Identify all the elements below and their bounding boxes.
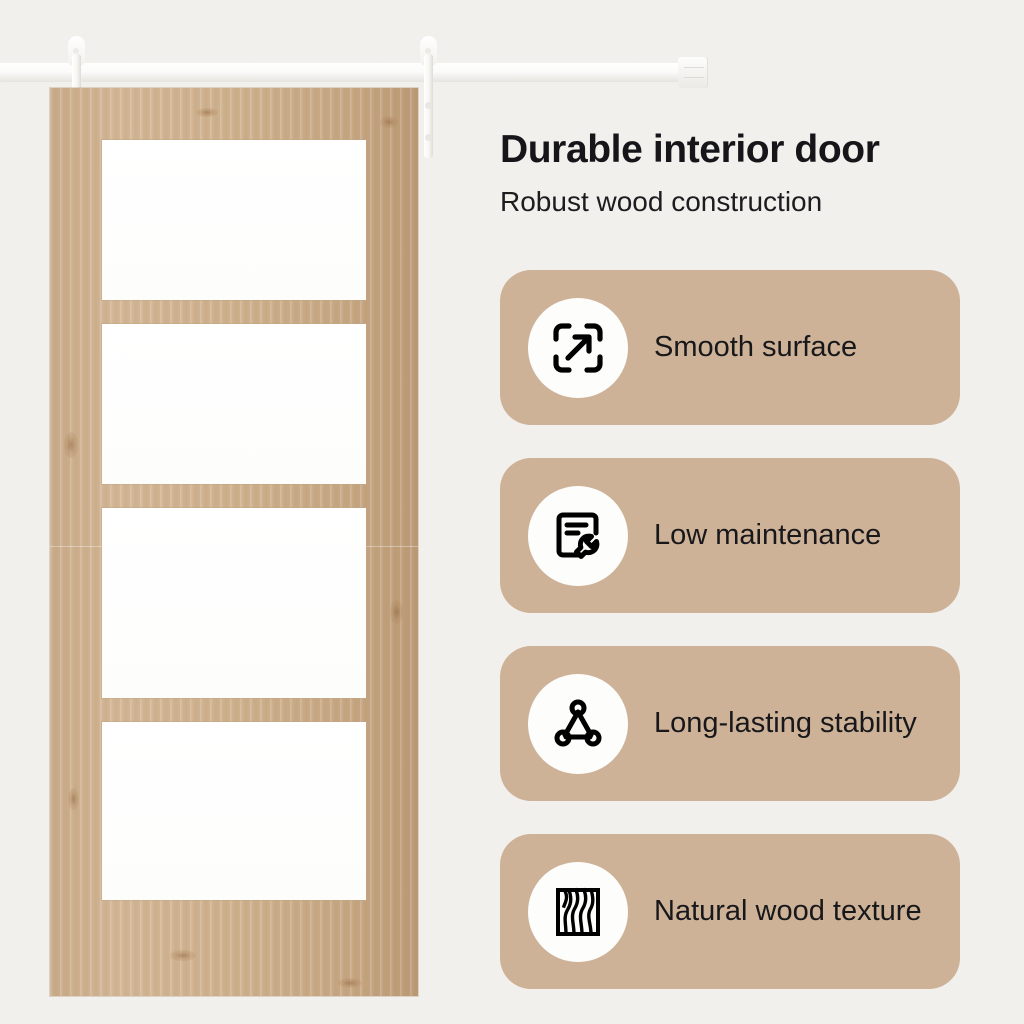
wood-knot xyxy=(68,788,79,810)
feature-card-low-maintenance[interactable]: Low maintenance xyxy=(500,458,960,613)
feature-card-smooth-surface[interactable]: Smooth surface xyxy=(500,270,960,425)
info-panel: Durable interior door Robust wood constr… xyxy=(470,0,1024,1024)
expand-arrow-frame-icon xyxy=(528,298,628,398)
glass-panel xyxy=(102,722,366,900)
feature-label: Low maintenance xyxy=(654,519,881,552)
page-title: Durable interior door xyxy=(500,128,1020,172)
document-wrench-icon xyxy=(528,486,628,586)
hanger-bolt xyxy=(425,134,432,141)
glass-panel xyxy=(102,140,366,300)
door-seam xyxy=(50,546,418,547)
wood-knot xyxy=(170,950,196,961)
door-slab xyxy=(50,88,418,996)
feature-label: Smooth surface xyxy=(654,331,857,364)
wood-knot xyxy=(196,108,218,117)
feature-label: Long-lasting stability xyxy=(654,707,917,740)
feature-list: Smooth surface Low maintenance xyxy=(500,270,960,1022)
glass-panel xyxy=(102,508,366,698)
feature-card-long-lasting-stability[interactable]: Long-lasting stability xyxy=(500,646,960,801)
wood-knot xyxy=(338,978,362,988)
wood-knot xyxy=(390,600,403,624)
hanger-roller-right xyxy=(420,36,436,158)
feature-card-natural-wood-texture[interactable]: Natural wood texture xyxy=(500,834,960,989)
glass-panel xyxy=(102,324,366,484)
page-subtitle: Robust wood construction xyxy=(500,186,1020,218)
wood-knot xyxy=(380,116,398,128)
triangle-nodes-icon xyxy=(528,674,628,774)
wood-knot xyxy=(64,432,78,458)
product-photo xyxy=(0,0,470,1024)
feature-label: Natural wood texture xyxy=(654,895,922,928)
wood-grain-icon xyxy=(528,862,628,962)
hanger-bolt xyxy=(425,102,432,109)
